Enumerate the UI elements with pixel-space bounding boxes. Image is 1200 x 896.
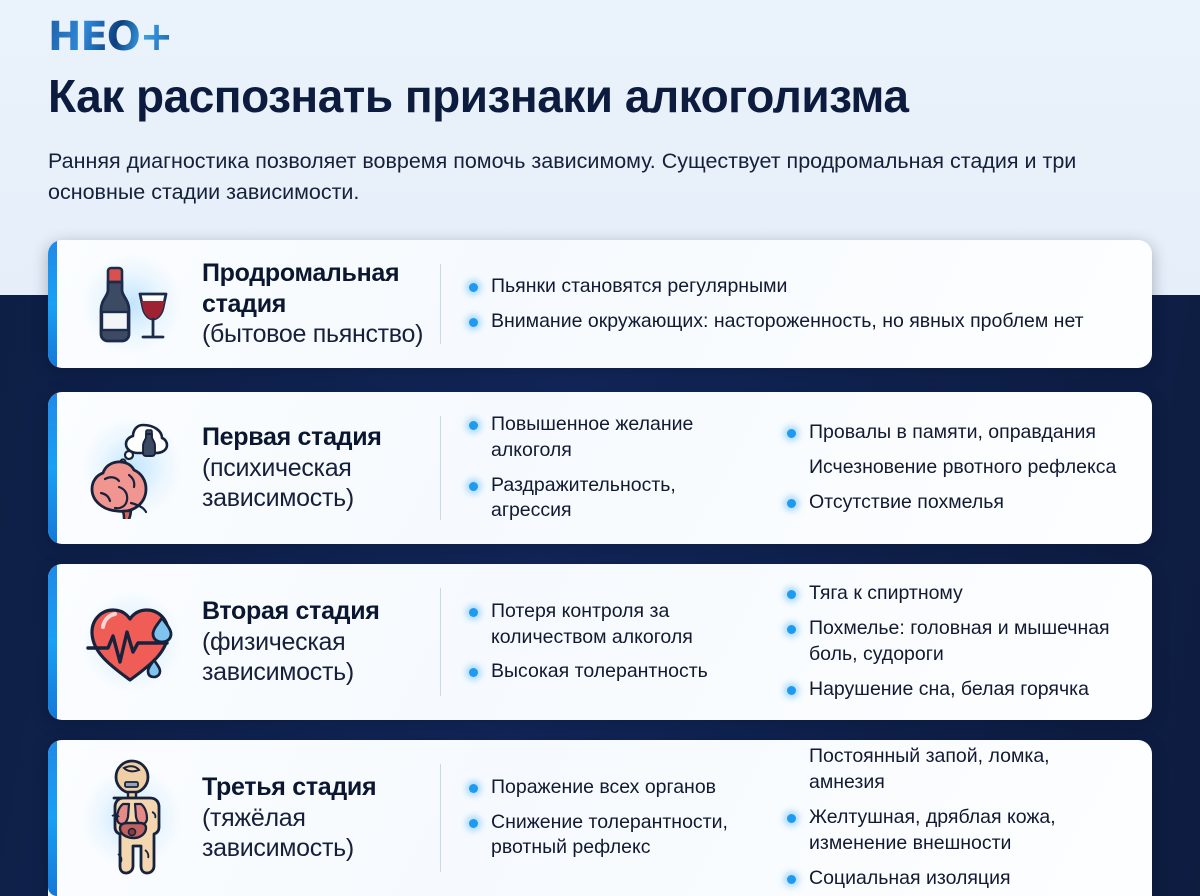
card-accent-strip xyxy=(48,240,57,368)
card-header: Первая стадия (психическая зависимость) xyxy=(48,392,440,544)
card-column: Потеря контроля за количеством алкоголя … xyxy=(441,590,759,695)
card-header: Продромальная стадия (бытовое пьянство) xyxy=(48,240,440,368)
list-item: Раздражительность, агрессия xyxy=(469,473,745,525)
symptom-list: Пьянки становятся регулярными Внимание о… xyxy=(469,274,1124,335)
symptom-list: Провалы в памяти, оправдания Исчезновени… xyxy=(787,420,1124,516)
card-column: Повышенное желание алкоголя Раздражитель… xyxy=(441,403,759,534)
stage-card-second: Вторая стадия (физическая зависимость) П… xyxy=(48,564,1152,720)
card-accent-strip xyxy=(48,564,57,720)
symptom-list: Поражение всех органов Снижение толерант… xyxy=(469,775,745,862)
list-item: Отсутствие похмелья xyxy=(787,490,1124,516)
card-accent-strip xyxy=(48,740,57,896)
card-header: Третья стадия (тяжёлая зависимость) xyxy=(48,740,440,896)
card-title-block: Третья стадия (тяжёлая зависимость) xyxy=(202,772,440,864)
list-item: Тяга к спиртному xyxy=(787,581,1124,607)
brand-logo: HEO+ xyxy=(48,14,172,60)
list-item: Повышенное желание алкоголя xyxy=(469,412,745,464)
list-item: Снижение толерантности, рвотный рефлекс xyxy=(469,810,745,862)
list-item: Высокая толерантность xyxy=(469,659,745,685)
list-item: Провалы в памяти, оправдания xyxy=(787,420,1124,446)
page-subtitle: Ранняя диагностика позволяет вовремя пом… xyxy=(48,146,1078,207)
card-title-block: Продромальная стадия (бытовое пьянство) xyxy=(202,258,440,350)
list-item: Исчезновение рвотного рефлекса xyxy=(787,455,1124,481)
stage-card-third: Третья стадия (тяжёлая зависимость) Пора… xyxy=(48,740,1152,896)
wine-bottle-and-glass-icon xyxy=(72,244,192,364)
stage-card-prodromal: Продромальная стадия (бытовое пьянство) … xyxy=(48,240,1152,368)
stage-card-first: Первая стадия (психическая зависимость) … xyxy=(48,392,1152,544)
card-column: Тяга к спиртному Похмелье: головная и мы… xyxy=(759,572,1138,712)
card-title: Вторая стадия xyxy=(202,596,440,627)
page-title: Как распознать признаки алкоголизма xyxy=(48,72,1168,122)
card-column: Пьянки становятся регулярными Внимание о… xyxy=(441,265,1138,344)
card-columns: Потеря контроля за количеством алкоголя … xyxy=(441,564,1152,720)
human-body-organs-icon xyxy=(72,758,192,878)
symptom-list: Потеря контроля за количеством алкоголя … xyxy=(469,599,745,686)
card-title: Первая стадия xyxy=(202,422,440,453)
symptom-list: Постоянный запой, ломка, амнезия Желтушн… xyxy=(787,744,1124,892)
brain-with-bottle-thought-icon xyxy=(72,408,192,528)
card-header: Вторая стадия (физическая зависимость) xyxy=(48,564,440,720)
card-column: Поражение всех органов Снижение толерант… xyxy=(441,766,759,871)
card-columns: Поражение всех органов Снижение толерант… xyxy=(441,740,1152,896)
list-item: Социальная изоляция xyxy=(787,866,1124,892)
card-title: Продромальная стадия xyxy=(202,258,440,319)
list-item: Желтушная, дряблая кожа, изменение внешн… xyxy=(787,805,1124,857)
heart-with-pulse-icon xyxy=(72,582,192,702)
list-item: Нарушение сна, белая горячка xyxy=(787,677,1124,703)
list-item: Похмелье: головная и мышечная боль, судо… xyxy=(787,616,1124,668)
list-item: Поражение всех органов xyxy=(469,775,745,801)
infographic-page: HEO+ Как распознать признаки алкоголизма… xyxy=(0,0,1200,896)
card-column: Провалы в памяти, оправдания Исчезновени… xyxy=(759,411,1138,525)
card-accent-strip xyxy=(48,392,57,544)
card-column: Постоянный запой, ломка, амнезия Желтушн… xyxy=(759,740,1138,896)
list-item: Пьянки становятся регулярными xyxy=(469,274,1124,300)
card-title: Третья стадия xyxy=(202,772,440,803)
list-item: Постоянный запой, ломка, амнезия xyxy=(787,744,1124,796)
card-title-block: Первая стадия (психическая зависимость) xyxy=(202,422,440,514)
list-item: Внимание окружающих: настороженность, но… xyxy=(469,309,1124,335)
card-title-block: Вторая стадия (физическая зависимость) xyxy=(202,596,440,688)
card-subtitle: (тяжёлая зависимость) xyxy=(202,803,440,864)
card-subtitle: (бытовое пьянство) xyxy=(202,319,440,350)
symptom-list: Повышенное желание алкоголя Раздражитель… xyxy=(469,412,745,525)
symptom-list: Тяга к спиртному Похмелье: головная и мы… xyxy=(787,581,1124,703)
card-columns: Повышенное желание алкоголя Раздражитель… xyxy=(441,392,1152,544)
list-item: Потеря контроля за количеством алкоголя xyxy=(469,599,745,651)
card-columns: Пьянки становятся регулярными Внимание о… xyxy=(441,240,1152,368)
card-subtitle: (психическая зависимость) xyxy=(202,453,440,514)
card-subtitle: (физическая зависимость) xyxy=(202,627,440,688)
